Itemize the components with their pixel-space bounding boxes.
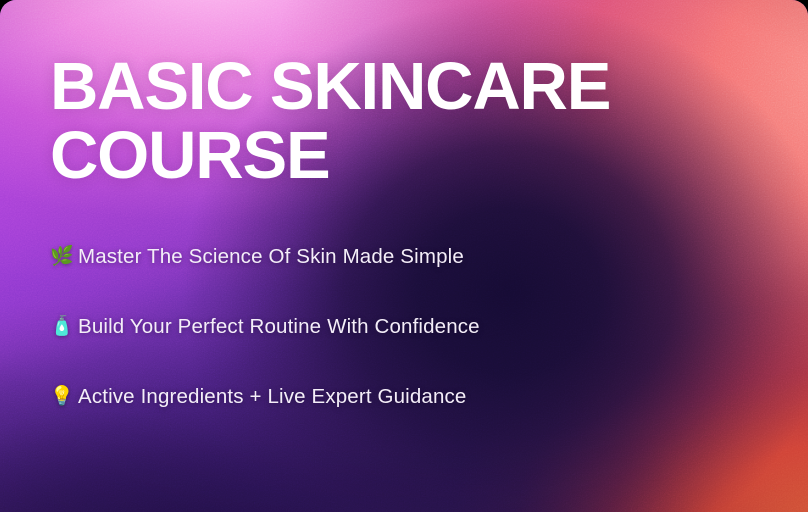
list-item-label: Active Ingredients + Live Expert Guidanc… bbox=[78, 384, 466, 410]
light-bulb-icon: 💡 bbox=[50, 384, 76, 410]
list-item-label: Master The Science Of Skin Made Simple bbox=[78, 244, 464, 270]
lotion-bottle-icon: 🧴 bbox=[50, 314, 76, 340]
page-title: BASIC SKINCARE COURSE bbox=[50, 52, 650, 190]
list-item-label: Build Your Perfect Routine With Confiden… bbox=[78, 314, 480, 340]
list-item: 🧴 Build Your Perfect Routine With Confid… bbox=[50, 314, 480, 340]
feature-bullet-list: 🌿 Master The Science Of Skin Made Simple… bbox=[50, 244, 480, 454]
promo-poster: BASIC SKINCARE COURSE 🌿 Master The Scien… bbox=[0, 0, 808, 512]
list-item: 🌿 Master The Science Of Skin Made Simple bbox=[50, 244, 480, 270]
poster-content: BASIC SKINCARE COURSE 🌿 Master The Scien… bbox=[0, 0, 808, 512]
title-line-1: BASIC SKINCARE bbox=[50, 49, 610, 124]
title-line-2: COURSE bbox=[50, 118, 329, 193]
list-item: 💡 Active Ingredients + Live Expert Guida… bbox=[50, 384, 480, 410]
herb-leaf-icon: 🌿 bbox=[50, 244, 76, 270]
